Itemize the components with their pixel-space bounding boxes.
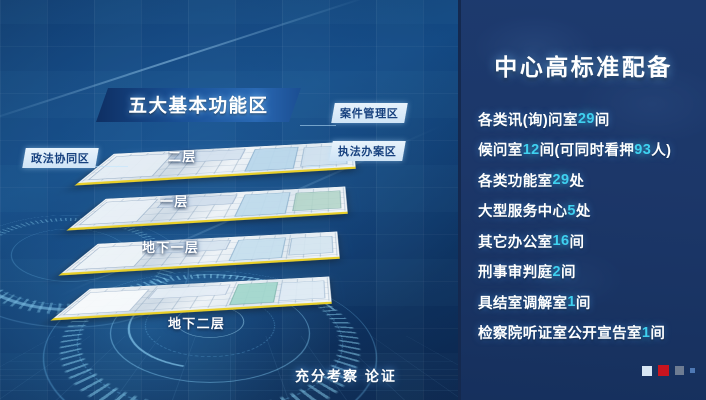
floor-plan-block	[234, 192, 290, 216]
spec-text: 处	[569, 170, 584, 191]
panel-spec-item: 各类功能室29处	[478, 165, 698, 196]
spec-text: 间	[561, 261, 576, 282]
callout-leader-line	[306, 166, 334, 167]
spec-text: 各类功能室	[478, 170, 553, 191]
spec-text: 刑事审判庭	[478, 261, 553, 282]
spec-text: 处	[576, 200, 591, 221]
panel-title: 中心高标准配备	[461, 48, 706, 82]
spec-value: 1	[567, 294, 575, 310]
spec-text: 人)	[651, 139, 671, 160]
zone-label-political-legal[interactable]: 政法协同区	[22, 148, 98, 168]
floor-plan-block	[229, 238, 286, 261]
spec-text: 各类讯(询)问室	[478, 109, 578, 130]
panel-spec-list: 各类讯(询)问室29间候问室12间(可同时看押93人)各类功能室29处大型服务中…	[478, 104, 698, 348]
3d-building-scene: 二层 一层 地下一层	[0, 0, 462, 400]
spec-value: 29	[553, 172, 570, 188]
info-panel: 中心高标准配备 各类讯(询)问室29间候问室12间(可同时看押93人)各类功能室…	[458, 0, 706, 400]
spec-text: 具结室调解室	[478, 292, 567, 313]
spec-value: 5	[567, 203, 575, 219]
indicator-square-white	[642, 366, 652, 376]
spec-value: 29	[578, 111, 595, 127]
spec-text: 大型服务中心	[478, 200, 567, 221]
spec-text: 间	[576, 292, 591, 313]
indicator-square-blue	[690, 368, 695, 373]
page-title-text: 五大基本功能区	[128, 92, 268, 118]
indicator-square-gray	[675, 366, 684, 375]
spec-text: 间	[595, 109, 610, 130]
callout-leader-line	[300, 125, 336, 126]
spec-value: 2	[553, 264, 561, 280]
floor-plan-block	[229, 282, 278, 305]
panel-spec-item: 候问室12间(可同时看押93人)	[478, 135, 698, 166]
spec-text: 检察院听证室公开宣告室	[478, 322, 642, 343]
floor-plan-block	[288, 236, 333, 255]
presentation-slide: 二层 一层 地下一层	[0, 0, 706, 400]
zone-label-case-management[interactable]: 案件管理区	[331, 103, 407, 123]
floor-label: 地下二层	[168, 313, 225, 332]
floor-plan-block	[292, 191, 341, 212]
panel-spec-item: 刑事审判庭2间	[478, 257, 698, 288]
spec-text: 候问室	[478, 139, 523, 160]
page-title: 五大基本功能区	[96, 88, 301, 122]
spec-value: 12	[523, 142, 540, 158]
spec-text: 间	[569, 231, 584, 252]
indicator-square-red	[658, 365, 669, 376]
panel-spec-item: 其它办公室16间	[478, 226, 698, 257]
callout-leader-line	[94, 166, 128, 167]
panel-spec-item: 检察院听证室公开宣告室1间	[478, 318, 698, 349]
panel-spec-item: 各类讯(询)问室29间	[478, 104, 698, 135]
spec-value: 93	[634, 142, 651, 158]
spec-value: 16	[553, 233, 570, 249]
panel-spec-item: 具结室调解室1间	[478, 287, 698, 318]
zone-label-law-enforcement[interactable]: 执法办案区	[329, 141, 405, 161]
panel-spec-item: 大型服务中心5处	[478, 196, 698, 227]
scene-caption: 充分考察 论证	[295, 366, 397, 386]
spec-text: 间(可同时看押	[540, 139, 635, 160]
floor-slab: 地下二层	[76, 267, 336, 325]
spec-text: 间	[650, 322, 665, 343]
indicator-squares	[642, 365, 695, 376]
floor-plan-block	[278, 281, 325, 302]
floor-plan-block	[244, 147, 298, 172]
spec-text: 其它办公室	[478, 231, 553, 252]
